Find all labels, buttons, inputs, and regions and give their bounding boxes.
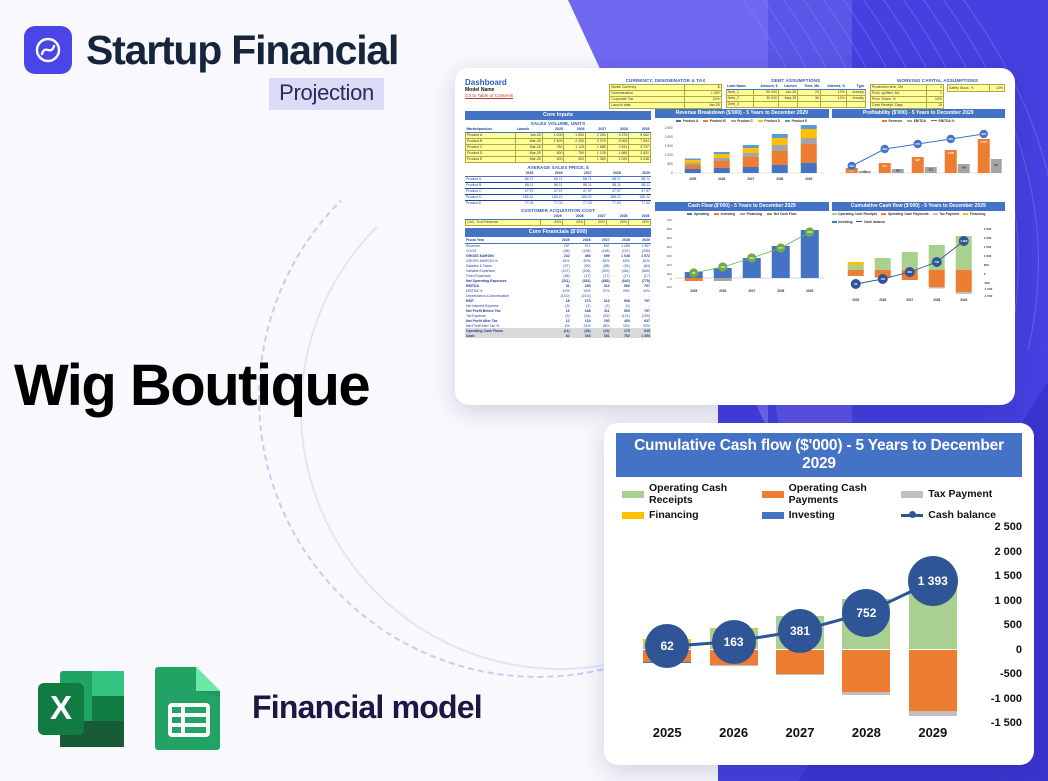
- svg-text:37%: 37%: [915, 142, 921, 146]
- svg-text:32%: 32%: [882, 147, 888, 151]
- cell: 381: [592, 333, 611, 338]
- cell: 1 350: [586, 156, 608, 162]
- avg-price-header: AVERAGE SALES PRICE, $: [465, 165, 651, 170]
- file-format-badges: X Financial model: [30, 661, 482, 753]
- mini-chart-plot: 2 5002 000 1 5001 000 5000: [655, 123, 829, 185]
- svg-text:2 000: 2 000: [983, 236, 991, 240]
- mini-chart-revenue-breakdown[interactable]: Revenue Breakdown ($'000) - 5 Years to D…: [655, 109, 829, 199]
- cac-header: CUSTOMER ACQUISITION COST: [465, 208, 651, 213]
- svg-text:218: 218: [749, 256, 754, 260]
- legend-label: Investing: [789, 509, 835, 521]
- bar-segment: [909, 650, 957, 711]
- legend-label: Operating Cash Receipts: [649, 482, 762, 506]
- legend-item-investing: Investing: [762, 509, 902, 521]
- svg-text:2025: 2025: [690, 289, 697, 293]
- cell: Product E: [465, 200, 505, 205]
- cash-balance-data-label: 1 393: [908, 556, 958, 606]
- x-tick-label: 2025: [653, 725, 682, 740]
- svg-text:1 393: 1 393: [960, 239, 967, 243]
- y-tick-label: 2 000: [994, 546, 1022, 558]
- svg-text:10%: 10%: [849, 164, 855, 168]
- brand-title: Startup Financial: [86, 27, 398, 74]
- cell: 10%: [989, 85, 1004, 92]
- cell: CAC, % of Revenue: [466, 219, 541, 225]
- x-tick-label: 2028: [852, 725, 881, 740]
- mini-chart-profitability[interactable]: Profitability ($'000) - 5 Years to Decem…: [832, 109, 1006, 199]
- cac-table: 2025 2026 2027 2028 2029 CAC, % of Reven…: [465, 214, 651, 226]
- legend-item-financing: Financing: [622, 509, 762, 521]
- currency-section-header: CURRENCY, DENOMINATOR & TAX: [609, 78, 721, 83]
- badge-label: Financial model: [252, 689, 482, 726]
- svg-text:X: X: [50, 689, 72, 726]
- cell: Debt_3: [726, 101, 753, 107]
- bar-segment: [842, 650, 890, 692]
- mini-chart-cash-flow[interactable]: Cash Flow ($'000) - 5 Years to December …: [655, 202, 829, 312]
- legend-label: Financing: [970, 212, 986, 216]
- x-axis: 20252026202720282029: [634, 725, 966, 745]
- cell: 77.03: [593, 200, 622, 205]
- svg-text:500: 500: [667, 236, 672, 240]
- dashboard-preview-card[interactable]: Dashboard Model Name Go to Table of Cont…: [455, 68, 1015, 405]
- legend-item-operating-cash-payments: Operating Cash Payments: [762, 482, 902, 506]
- table-row: CAC, % of Revenue 20% 20% 20% 20% 20%: [466, 219, 651, 225]
- cell: 20%: [541, 219, 563, 225]
- microsoft-excel-icon: X: [30, 661, 132, 753]
- cell: 77.03: [534, 200, 563, 205]
- table-row: Cash621633817521 393: [465, 333, 651, 338]
- y-tick-label: -500: [1000, 668, 1022, 680]
- svg-text:2027: 2027: [747, 177, 754, 181]
- cell: 20%: [585, 219, 607, 225]
- sales-volume-header: SALES VOLUME, UNITS: [465, 121, 651, 126]
- svg-text:0: 0: [983, 272, 985, 276]
- svg-text:0: 0: [671, 171, 673, 175]
- svg-text:371: 371: [778, 246, 783, 250]
- svg-text:-100: -100: [666, 285, 672, 289]
- svg-text:1 000: 1 000: [983, 254, 991, 258]
- svg-text:200: 200: [667, 263, 672, 267]
- cell: 3 038: [629, 156, 651, 162]
- cash-balance-data-label: 752: [842, 589, 890, 637]
- svg-text:2029: 2029: [805, 177, 812, 181]
- bar-segment: [776, 650, 824, 675]
- svg-text:600: 600: [667, 227, 672, 231]
- cell: 900: [564, 156, 586, 162]
- svg-text:163: 163: [880, 277, 885, 281]
- core-financials-table: Fiscal Year 2025 2026 2027 2028 2029 Rev…: [465, 238, 651, 338]
- cell: Cash: [465, 333, 550, 338]
- cell: Mar-25: [516, 156, 543, 162]
- core-inputs-title: Core Inputs: [465, 111, 651, 120]
- svg-text:2028: 2028: [776, 177, 783, 181]
- cell: 400: [542, 156, 564, 162]
- mini-chart-legend: Operating Cash Receipts Operating Cash P…: [832, 212, 1006, 224]
- mini-chart-plot: 2 5002 0001 500 1 0005000 -500-1 000-1 5…: [832, 224, 1006, 304]
- brand-subtitle: Projection: [269, 78, 384, 110]
- y-tick-label: -1 000: [991, 693, 1022, 705]
- safety-stock-table: Safety Stock, %10%: [947, 84, 1005, 92]
- dashboard-title: Dashboard: [465, 78, 605, 87]
- cell: 15: [927, 102, 944, 108]
- svg-text:313: 313: [928, 167, 933, 171]
- svg-text:1 285: 1 285: [947, 151, 954, 155]
- cell: 77.03: [622, 200, 651, 205]
- legend-label: Tax Payment: [928, 488, 992, 500]
- svg-text:1 500: 1 500: [665, 144, 673, 148]
- svg-text:0: 0: [670, 277, 672, 281]
- svg-text:500: 500: [983, 263, 988, 267]
- legend-label: Financing: [649, 509, 699, 521]
- svg-text:-1 000: -1 000: [983, 287, 992, 291]
- bar-segment: [710, 665, 758, 666]
- svg-text:752: 752: [934, 260, 939, 264]
- svg-text:2028: 2028: [777, 289, 784, 293]
- cell: 163: [571, 333, 592, 338]
- cash-balance-data-label: 381: [778, 609, 822, 653]
- y-tick-label: 500: [1004, 619, 1022, 631]
- svg-text:2026: 2026: [718, 177, 725, 181]
- svg-text:39%: 39%: [948, 137, 954, 141]
- cell: Safety Stock, %: [948, 85, 990, 92]
- svg-text:897: 897: [915, 158, 920, 162]
- cell: 20%: [628, 219, 650, 225]
- mini-chart-title: Profitability ($'000) - 5 Years to Decem…: [832, 109, 1006, 118]
- y-axis: 2 5002 0001 5001 0005000-500-1 000-1 500: [970, 527, 1022, 723]
- svg-text:1 500: 1 500: [983, 245, 991, 249]
- legend-item-tax-payment: Tax Payment: [901, 482, 1020, 506]
- svg-text:2029: 2029: [806, 289, 813, 293]
- svg-text:2025: 2025: [689, 177, 696, 181]
- svg-text:2025: 2025: [852, 298, 859, 302]
- svg-text:1 907: 1 907: [980, 140, 987, 144]
- svg-text:400: 400: [667, 245, 672, 249]
- svg-text:797: 797: [993, 163, 998, 167]
- cell: Cash Receipt, Days: [871, 102, 927, 108]
- avg-price-table: 2025 2026 2027 2028 2029 Product A 58.71…: [465, 171, 651, 206]
- x-tick-label: 2029: [918, 725, 947, 740]
- cash-balance-data-label: 163: [712, 620, 756, 664]
- svg-text:101: 101: [720, 265, 725, 269]
- brand-logo: Startup Financial Projection: [24, 26, 398, 110]
- mini-chart-title: Cumulative Cash flow ($'000) - 5 Years t…: [832, 202, 1006, 211]
- bar-segment: [776, 674, 824, 675]
- toc-link[interactable]: Go to Table of Contents: [465, 93, 605, 98]
- mini-chart-plot: 700600500 400300200 1000-100: [655, 216, 829, 296]
- y-tick-label: 1 500: [994, 570, 1022, 582]
- svg-text:381: 381: [907, 270, 912, 274]
- chart-title: Cumulative Cash flow ($'000) - 5 Years t…: [616, 433, 1022, 477]
- svg-text:2027: 2027: [906, 298, 913, 302]
- cell: 2 025: [607, 156, 629, 162]
- cell: 20%: [607, 219, 629, 225]
- cell: 752: [611, 333, 631, 338]
- debt-section-header: DEBT ASSUMPTIONS: [726, 78, 866, 83]
- mini-chart-title: Revenue Breakdown ($'000) - 5 Years to D…: [655, 109, 829, 118]
- svg-text:1 000: 1 000: [665, 153, 673, 157]
- svg-text:185: 185: [895, 168, 900, 172]
- currency-table: Model Currency$ Denomination1 000 Corpor…: [609, 84, 721, 109]
- svg-text:506: 506: [961, 165, 966, 169]
- chart-plot-area: 2 5002 0001 5001 0005000-500-1 000-1 500…: [616, 527, 1022, 745]
- debt-table: Loan Name Amount, $ Launch Term, Mo Inte…: [726, 84, 866, 108]
- google-sheets-icon: [150, 661, 228, 753]
- svg-text:2028: 2028: [933, 298, 940, 302]
- y-tick-label: 0: [1016, 644, 1022, 656]
- svg-text:2026: 2026: [719, 289, 726, 293]
- legend-label: Cash balance: [928, 509, 996, 521]
- core-financials-title: Core Financials ($'000): [465, 228, 651, 237]
- legend-label: Tax Payment: [939, 212, 959, 216]
- mini-chart-plot: 297571 8971 2851 907 33185 313506797: [832, 123, 1006, 185]
- svg-text:300: 300: [667, 254, 672, 258]
- cell: Product E: [466, 156, 516, 162]
- legend-label: Operating Cash Payments: [789, 482, 902, 506]
- y-tick-label: -1 500: [991, 717, 1022, 729]
- page-title: Wig Boutique: [14, 352, 369, 419]
- svg-text:2029: 2029: [960, 298, 967, 302]
- bar-segment: [909, 711, 957, 716]
- bar-segment: [842, 692, 890, 695]
- svg-text:640: 640: [807, 230, 812, 234]
- chart-legend: Operating Cash Receipts Operating Cash P…: [616, 477, 1022, 525]
- wc-section-header: WORKING CAPITAL ASSUMPTIONS: [870, 78, 1005, 83]
- y-tick-label: 2 500: [994, 521, 1022, 533]
- cumulative-cash-flow-card[interactable]: Cumulative Cash flow ($'000) - 5 Years t…: [604, 423, 1034, 765]
- cell: 20%: [563, 219, 585, 225]
- legend-label: Operating Cash Receipts: [838, 212, 877, 216]
- svg-text:62: 62: [692, 271, 696, 275]
- svg-text:700: 700: [667, 218, 672, 222]
- svg-text:2 500: 2 500: [983, 227, 991, 231]
- svg-text:2027: 2027: [748, 289, 755, 293]
- mini-chart-cumulative-cash-flow[interactable]: Cumulative Cash flow ($'000) - 5 Years t…: [832, 202, 1006, 312]
- cell: 77.03: [505, 200, 534, 205]
- svg-text:500: 500: [667, 162, 673, 166]
- svg-text:62: 62: [854, 282, 858, 286]
- svg-text:100: 100: [667, 272, 672, 276]
- x-tick-label: 2026: [719, 725, 748, 740]
- x-tick-label: 2027: [786, 725, 815, 740]
- table-row: Product E Mar-25 400 900 1 350 2 025 3 0…: [466, 156, 651, 162]
- y-tick-label: 1 000: [994, 595, 1022, 607]
- legend-item-operating-cash-receipts: Operating Cash Receipts: [622, 482, 762, 506]
- cell: Launch date: [610, 102, 684, 108]
- cell: 62: [550, 333, 571, 338]
- cell: 1 393: [631, 333, 651, 338]
- svg-text:2 000: 2 000: [665, 135, 673, 139]
- legend-label: Operating Cash Payments: [888, 212, 929, 216]
- spiral-logo-icon: [24, 26, 72, 74]
- cell: Jan-25: [684, 102, 721, 108]
- svg-text:571: 571: [882, 164, 887, 168]
- legend-item-cash-balance: Cash balance: [901, 509, 1020, 521]
- svg-text:-500: -500: [983, 281, 989, 285]
- svg-text:2026: 2026: [879, 298, 886, 302]
- svg-text:42%: 42%: [981, 132, 987, 136]
- mini-chart-title: Cash Flow ($'000) - 5 Years to December …: [655, 202, 829, 211]
- working-capital-table: Production time, Mo1 Prod. uplifted, Mo1…: [870, 84, 944, 109]
- cell: 77.03: [564, 200, 593, 205]
- sales-volume-table: Market/product Launch 2025 2026 2027 202…: [465, 127, 651, 163]
- table-row: Product E 77.03 77.03 77.03 77.03 77.03: [465, 200, 651, 205]
- svg-text:2 500: 2 500: [665, 126, 673, 130]
- svg-text:-1 500: -1 500: [983, 294, 992, 298]
